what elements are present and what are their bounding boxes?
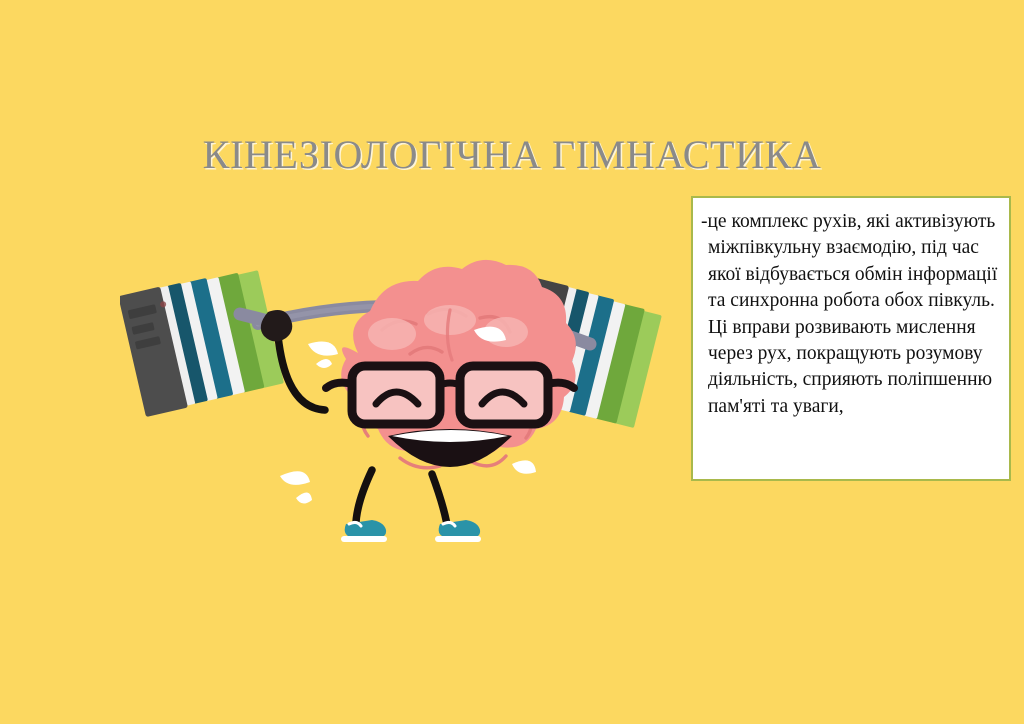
page-title: КІНЕЗІОЛОГІЧНА ГІМНАСТИКА — [0, 131, 1024, 179]
slide-canvas: КІНЕЗІОЛОГІЧНА ГІМНАСТИКА — [0, 0, 1024, 724]
brain-lifting-books-illustration — [120, 258, 690, 553]
definition-text-box: -це комплекс рухів, які активізують міжп… — [691, 196, 1011, 481]
brain-shoes — [341, 520, 481, 542]
definition-paragraph: -це комплекс рухів, які активізують міжп… — [693, 198, 1009, 420]
left-book-stack — [120, 264, 284, 417]
